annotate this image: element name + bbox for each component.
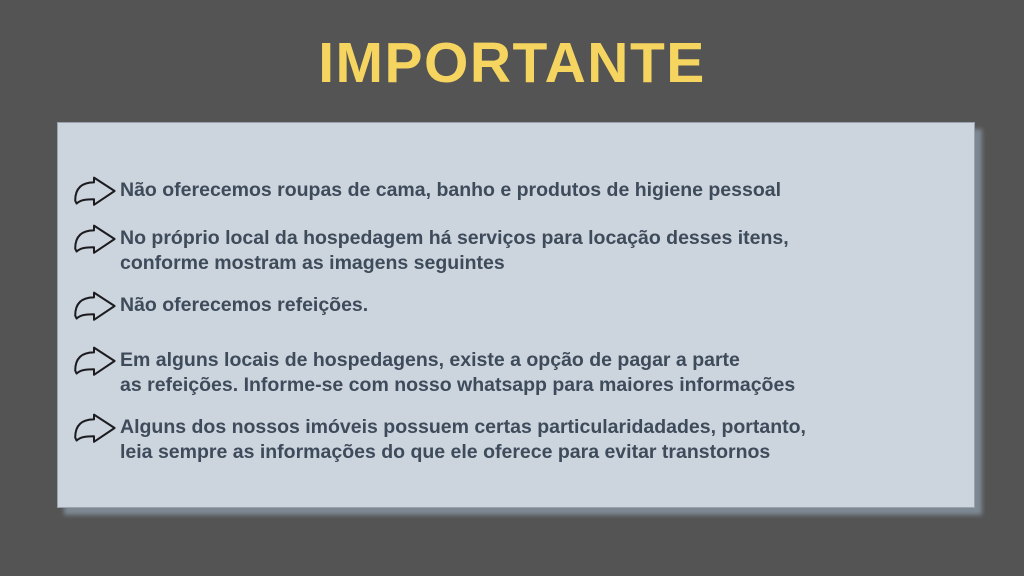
list-item-text: Não oferecemos refeições. <box>120 290 368 318</box>
content-panel: Não oferecemos roupas de cama, banho e p… <box>57 122 975 508</box>
list-item: Em alguns locais de hospedagens, existe … <box>72 345 964 398</box>
curved-right-arrow-icon <box>72 413 118 445</box>
curved-right-arrow-icon <box>72 291 118 323</box>
list-item: Alguns dos nossos imóveis possuem certas… <box>72 412 964 465</box>
bullet-list: Não oferecemos roupas de cama, banho e p… <box>72 175 964 465</box>
curved-right-arrow-icon <box>72 224 118 256</box>
curved-right-arrow-icon <box>72 346 118 378</box>
list-item-text: No próprio local da hospedagem há serviç… <box>120 223 789 276</box>
list-item-text: Em alguns locais de hospedagens, existe … <box>120 345 795 398</box>
list-item-text: Não oferecemos roupas de cama, banho e p… <box>120 175 781 203</box>
list-item-text: Alguns dos nossos imóveis possuem certas… <box>120 412 806 465</box>
list-item: Não oferecemos roupas de cama, banho e p… <box>72 175 964 208</box>
presentation-slide: IMPORTANTE Não oferecemos roupas de cama… <box>0 0 1024 576</box>
list-item: Não oferecemos refeições. <box>72 290 964 323</box>
page-title: IMPORTANTE <box>0 34 1024 94</box>
curved-right-arrow-icon <box>72 176 118 208</box>
list-item: No próprio local da hospedagem há serviç… <box>72 223 964 276</box>
